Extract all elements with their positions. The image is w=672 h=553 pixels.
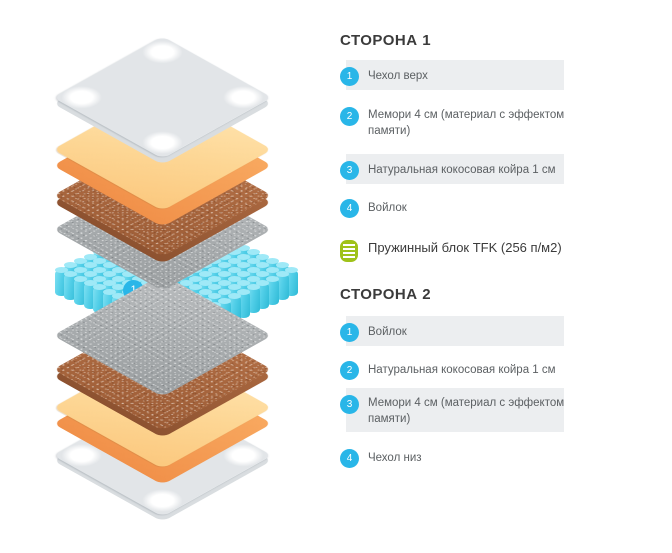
row-badge: 1: [340, 67, 359, 86]
row-label: Мемори 4 см (материал с эффектом памяти): [368, 395, 583, 427]
legend-row-side1-4: 4 Войлок: [330, 192, 672, 222]
row-label: Мемори 4 см (материал с эффектом памяти): [368, 107, 583, 139]
legend-row-side2-4: 4 Чехол низ: [330, 442, 672, 472]
layers-legend: СТОРОНА 1 1 Чехол верх 2 Мемори 4 см (ма…: [330, 0, 672, 504]
row-badge: 3: [340, 395, 359, 414]
mattress-layers-infographic: 1 2 3 4 1 2 3 4 СТОРОНА 1 1 Чехол верх 2…: [0, 0, 672, 504]
legend-row-side1-3: 3 Натуральная кокосовая койра 1 см: [330, 154, 672, 184]
row-badge: 2: [340, 107, 359, 126]
row-label: Войлок: [368, 200, 583, 216]
spring-block-icon: [340, 240, 358, 262]
legend-row-side2-2: 2 Натуральная кокосовая койра 1 см: [330, 354, 672, 384]
legend-row-side2-3: 3 Мемори 4 см (материал с эффектом памят…: [330, 388, 672, 432]
legend-row-side1-2: 2 Мемори 4 см (материал с эффектом памят…: [330, 100, 672, 144]
legend-row-spring-block: Пружинный блок TFK (256 п/м2): [330, 236, 672, 266]
row-label: Войлок: [368, 324, 583, 340]
legend-row-side2-1: 1 Войлок: [330, 316, 672, 346]
side1-title: СТОРОНА 1: [340, 32, 431, 49]
side2-title: СТОРОНА 2: [340, 286, 431, 303]
row-label: Пружинный блок TFK (256 п/м2): [368, 240, 598, 256]
row-badge: 1: [340, 323, 359, 342]
row-badge: 4: [340, 199, 359, 218]
row-label: Чехол верх: [368, 68, 583, 84]
row-label: Натуральная кокосовая койра 1 см: [368, 362, 583, 378]
row-badge: 2: [340, 361, 359, 380]
row-label: Чехол низ: [368, 450, 583, 466]
legend-row-side1-1: 1 Чехол верх: [330, 60, 672, 90]
row-badge: 4: [340, 449, 359, 468]
layer-face: [53, 36, 272, 159]
layer-top-cover: [85, 20, 260, 195]
row-badge: 3: [340, 161, 359, 180]
mattress-illustration: 1 2 3 4 1 2 3 4: [0, 0, 330, 504]
row-label: Натуральная кокосовая койра 1 см: [368, 162, 583, 178]
